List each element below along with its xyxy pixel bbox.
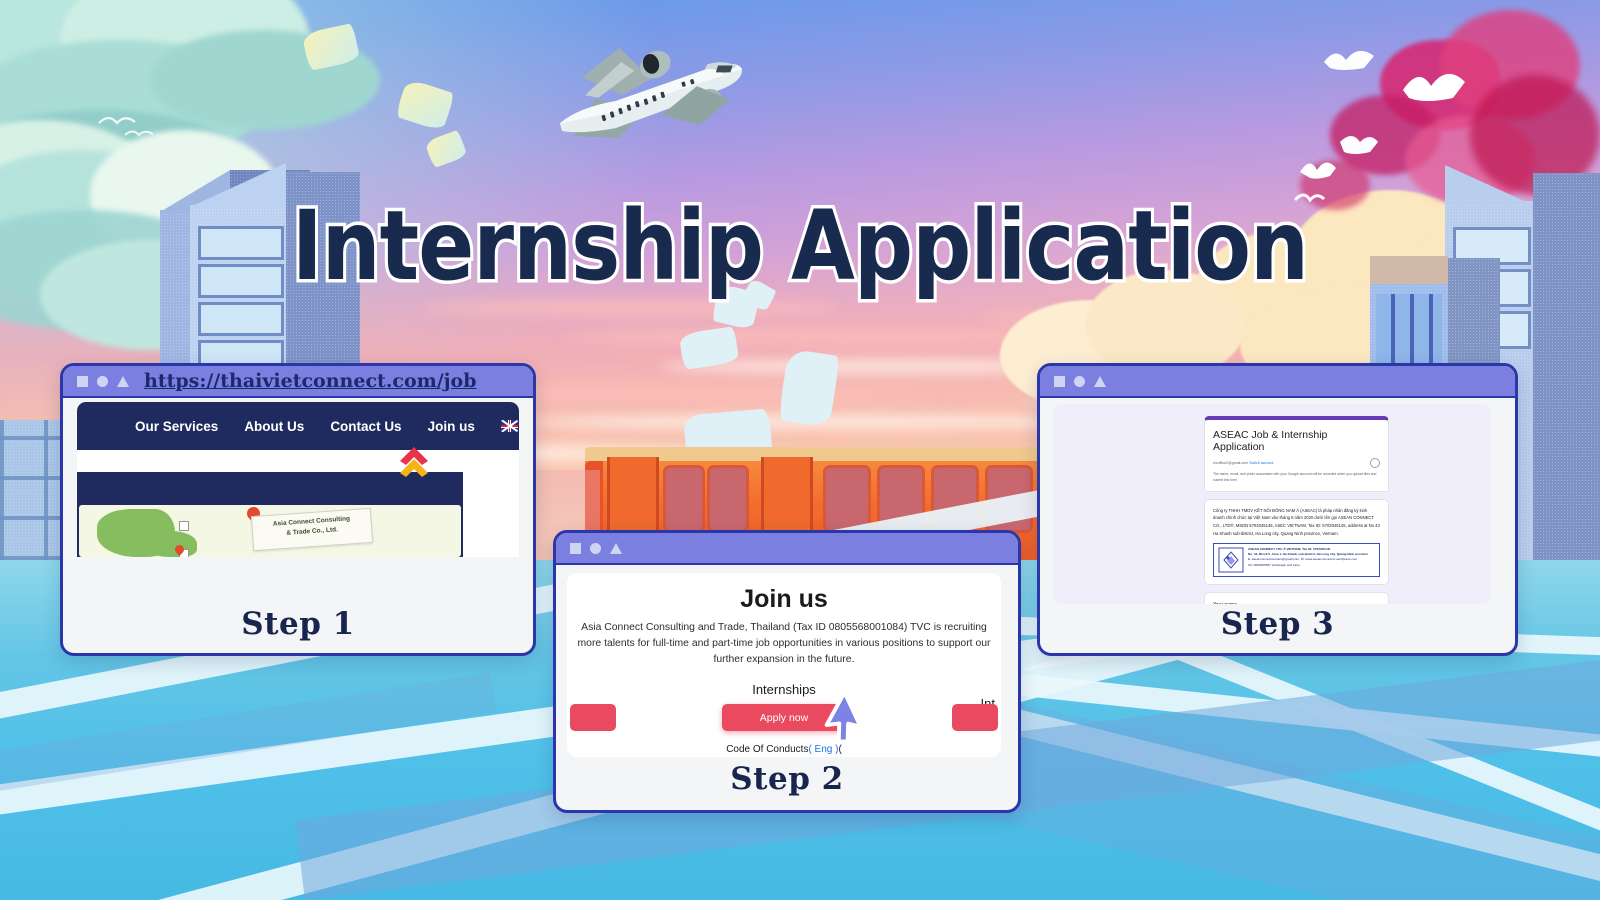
map-company-label: Asia Connect Consulting & Trade Co., Ltd… xyxy=(251,508,373,551)
nav-item-our-services[interactable]: Our Services xyxy=(135,419,218,434)
birds-icon xyxy=(1320,40,1380,80)
account-row: tvcoffice2@gmail.com Switch account xyxy=(1213,461,1273,465)
internships-section-title: Internships xyxy=(567,682,1001,697)
company-logo-icon xyxy=(1218,547,1244,573)
browser-titlebar xyxy=(556,533,1018,565)
address-bar[interactable]: https://thaivietconnect.com/job xyxy=(144,370,477,392)
account-email: tvcoffice2@gmail.com xyxy=(1213,461,1248,465)
step-2-webpage: Join us Asia Connect Consulting and Trad… xyxy=(567,573,1001,757)
map-checkbox[interactable] xyxy=(179,521,189,531)
page-title: Internship Application xyxy=(112,190,1488,302)
window-circle-icon xyxy=(1074,376,1085,387)
double-chevron-up-icon xyxy=(396,443,432,477)
airplane-icon xyxy=(538,22,758,172)
form-description-card: Công ty TNHH TMDV KẾT NỐI ĐÔNG NAM Á (AS… xyxy=(1204,499,1389,585)
nav-item-join-us[interactable]: Join us xyxy=(428,419,475,434)
birds-icon xyxy=(95,105,165,145)
nav-item-contact-us[interactable]: Contact Us xyxy=(330,419,401,434)
form-question-card: Your name Your answer xyxy=(1204,592,1389,604)
form-header-card: ASEAC Job & Internship Application tvcof… xyxy=(1204,416,1389,492)
scene-stage: Internship Application https://thaivietc… xyxy=(0,0,1600,900)
browser-titlebar: https://thaivietconnect.com/job xyxy=(63,366,533,398)
apply-now-button-left[interactable] xyxy=(570,704,616,731)
code-of-conducts-label: Code Of Conducts xyxy=(726,744,808,755)
form-title: ASEAC Job & Internship Application xyxy=(1213,427,1380,458)
window-square-icon xyxy=(570,543,581,554)
nav-item-about-us[interactable]: About Us xyxy=(244,419,304,434)
step-3-card[interactable]: ASEAC Job & Internship Application tvcof… xyxy=(1037,363,1518,656)
window-square-icon xyxy=(1054,376,1065,387)
window-circle-icon xyxy=(97,376,108,387)
birds-icon xyxy=(1395,60,1475,120)
window-circle-icon xyxy=(590,543,601,554)
step-3-webpage: ASEAC Job & Internship Application tvcof… xyxy=(1053,404,1491,604)
apply-button-row: Apply now xyxy=(567,704,1001,738)
window-square-icon xyxy=(77,376,88,387)
account-note: The name, email, and photo associated wi… xyxy=(1213,472,1380,484)
join-us-heading: Join us xyxy=(567,585,1001,614)
step-1-label: Step 1 xyxy=(63,606,533,642)
google-form: ASEAC Job & Internship Application tvcof… xyxy=(1204,416,1389,604)
visibility-icon[interactable] xyxy=(1370,458,1380,468)
apply-now-button-right[interactable] xyxy=(952,704,998,731)
site-hero-banner: Asia Connect Consulting & Trade Co., Ltd… xyxy=(77,472,463,557)
cloud-streak xyxy=(420,300,840,316)
window-triangle-icon xyxy=(1094,376,1106,387)
step-3-label: Step 3 xyxy=(1040,606,1515,642)
step-2-card[interactable]: Join us Asia Connect Consulting and Trad… xyxy=(553,530,1021,813)
mouse-cursor-icon xyxy=(820,692,864,748)
switch-account-link[interactable]: Switch account xyxy=(1249,461,1273,465)
window-triangle-icon xyxy=(117,376,129,387)
browser-titlebar xyxy=(1040,366,1515,398)
question-label: Your name xyxy=(1213,602,1380,604)
window-triangle-icon xyxy=(610,543,622,554)
code-of-conducts-row: Code Of Conducts( Eng )( xyxy=(567,744,1001,755)
uk-flag-icon[interactable] xyxy=(501,420,518,432)
site-navbar: Our Services About Us Contact Us Join us xyxy=(77,402,519,450)
step-1-webpage: Our Services About Us Contact Us Join us xyxy=(77,402,519,557)
signature-line-4: Tel: 0865285657 (whatsapp and zalo) xyxy=(1248,563,1368,568)
step-2-label: Step 2 xyxy=(556,761,1018,797)
map-landmass xyxy=(145,531,197,557)
join-us-paragraph: Asia Connect Consulting and Trade, Thail… xyxy=(567,620,1001,668)
location-map[interactable]: Asia Connect Consulting & Trade Co., Ltd… xyxy=(79,505,461,557)
form-description-text: Công ty TNHH TMDV KẾT NỐI ĐÔNG NAM Á (AS… xyxy=(1213,507,1380,538)
company-signature-block: ASEAN CONNECT LTD.,® VIETNAM. Tax ID: 57… xyxy=(1213,543,1380,577)
step-1-card[interactable]: https://thaivietconnect.com/job Our Serv… xyxy=(60,363,536,656)
company-signature-text: ASEAN CONNECT LTD.,® VIETNAM. Tax ID: 57… xyxy=(1248,547,1368,573)
